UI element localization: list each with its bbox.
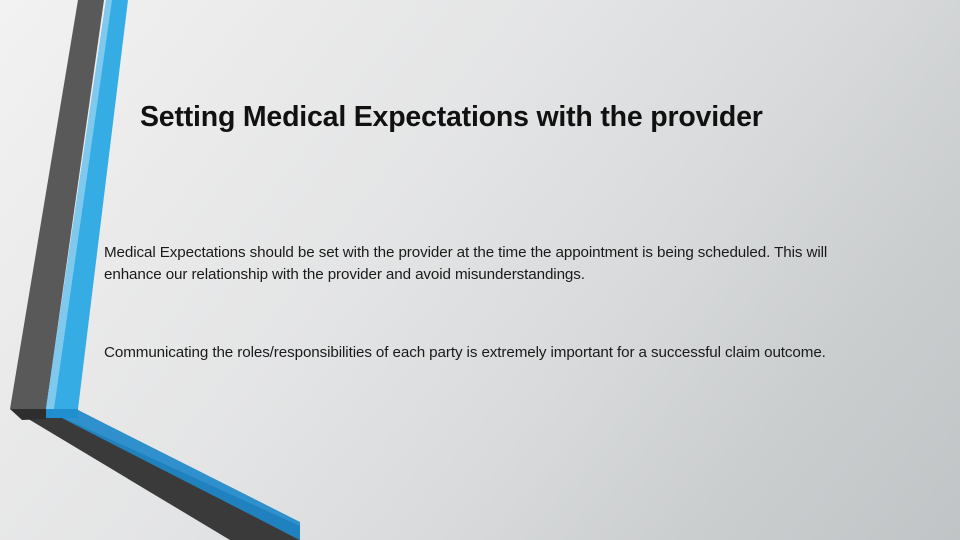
body-paragraph-2: Communicating the roles/responsibilities… [104,342,944,364]
slide-title: Setting Medical Expectations with the pr… [140,100,900,134]
presentation-slide: Setting Medical Expectations with the pr… [0,0,960,540]
body-paragraph-1: Medical Expectations should be set with … [104,242,858,286]
slide-text-layer: Setting Medical Expectations with the pr… [0,0,960,540]
